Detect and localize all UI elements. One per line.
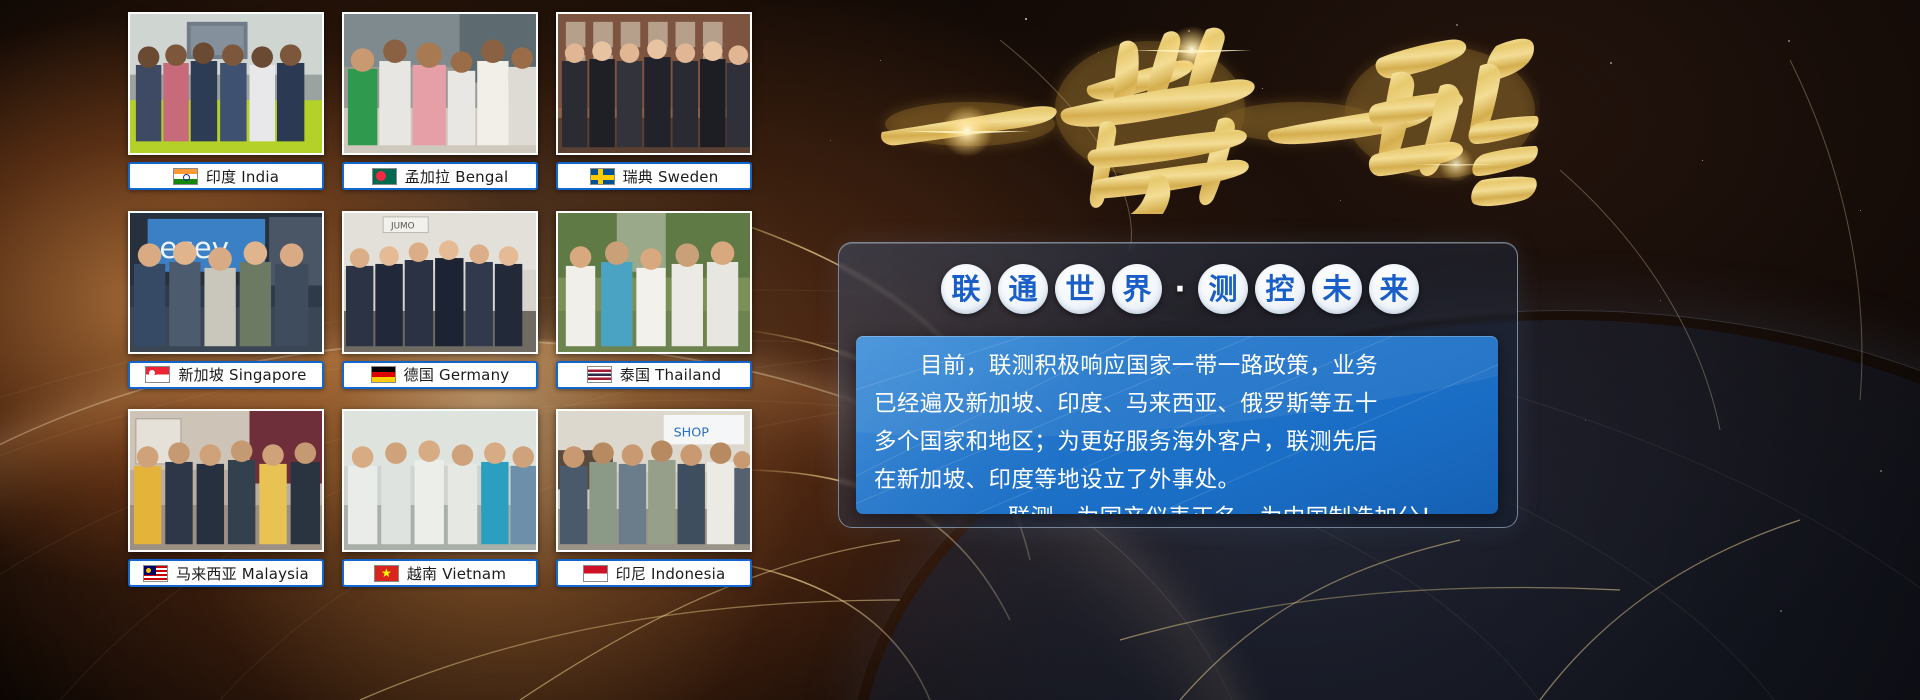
gallery-item-vietnam[interactable]: 越南 Vietnam [342, 409, 538, 592]
label-india[interactable]: 印度 India [128, 162, 324, 190]
photo-singapore: ecev [128, 211, 324, 354]
label-singapore[interactable]: 新加坡 Singapore [128, 361, 324, 389]
photo-indonesia: SHOP [556, 409, 752, 552]
flag-vietnam-icon [374, 565, 399, 582]
slogan-char-5: 测 [1198, 264, 1248, 314]
slogan-char-8: 来 [1369, 264, 1419, 314]
label-text: 德国 Germany [404, 364, 510, 385]
photo-sweden [556, 12, 752, 155]
description-text: 目前，联测积极响应国家一带一路政策，业务 已经遍及新加坡、印度、马来西亚、俄罗斯… [874, 347, 1480, 514]
flag-sweden-icon [590, 168, 615, 185]
label-text: 马来西亚 Malaysia [176, 563, 309, 584]
label-bangladesh[interactable]: 孟加拉 Bengal [342, 162, 538, 190]
gallery-item-bangladesh[interactable]: 孟加拉 Bengal [342, 12, 538, 195]
label-thailand[interactable]: 泰国 Thailand [556, 361, 752, 389]
photo-germany: JUMO [342, 211, 538, 354]
label-sweden[interactable]: 瑞典 Sweden [556, 162, 752, 190]
description-line-1: 目前，联测积极响应国家一带一路政策，业务 [874, 347, 1480, 385]
label-vietnam[interactable]: 越南 Vietnam [342, 559, 538, 587]
description-line-4: 在新加坡、印度等地设立了外事处。 [874, 461, 1480, 499]
flag-malaysia-icon [143, 565, 168, 582]
description-panel: 目前，联测积极响应国家一带一路政策，业务 已经遍及新加坡、印度、马来西亚、俄罗斯… [856, 336, 1498, 514]
slogan-char-2: 通 [998, 264, 1048, 314]
slogan-char-6: 控 [1255, 264, 1305, 314]
gallery-item-sweden[interactable]: 瑞典 Sweden [556, 12, 752, 195]
flag-thailand-icon [587, 366, 612, 383]
photo-thailand [556, 211, 752, 354]
gallery-item-germany[interactable]: JUMO 德国 Germany [342, 211, 538, 394]
description-line-2: 已经遍及新加坡、印度、马来西亚、俄罗斯等五十 [874, 385, 1480, 423]
country-photo-grid: 印度 India [128, 12, 752, 592]
label-text: 泰国 Thailand [620, 364, 721, 385]
gallery-item-thailand[interactable]: 泰国 Thailand [556, 211, 752, 394]
slogan-char-4: 界 [1112, 264, 1162, 314]
flag-indonesia-icon [583, 565, 608, 582]
label-text: 瑞典 Sweden [623, 166, 719, 187]
photo-india [128, 12, 324, 155]
label-malaysia[interactable]: 马来西亚 Malaysia [128, 559, 324, 587]
description-line-5: 联测，为国产仪表正名，为中国制造加分！ [874, 499, 1480, 514]
slogan-char-7: 未 [1312, 264, 1362, 314]
gallery-item-malaysia[interactable]: 马来西亚 Malaysia [128, 409, 324, 592]
photo-bangladesh [342, 12, 538, 155]
flag-india-icon [173, 168, 198, 185]
flag-germany-icon [371, 366, 396, 383]
label-text: 孟加拉 Bengal [405, 166, 509, 187]
gallery-item-india[interactable]: 印度 India [128, 12, 324, 195]
slogan-char-1: 联 [941, 264, 991, 314]
slogan-row: 联 通 世 界 · 测 控 未 来 [880, 258, 1480, 320]
label-germany[interactable]: 德国 Germany [342, 361, 538, 389]
label-indonesia[interactable]: 印尼 Indonesia [556, 559, 752, 587]
gallery-item-singapore[interactable]: ecev 新加坡 Singapore [128, 211, 324, 394]
promo-banner: 印度 India [0, 0, 1920, 700]
label-text: 新加坡 Singapore [178, 364, 306, 385]
description-line-3: 多个国家和地区；为更好服务海外客户，联测先后 [874, 423, 1480, 461]
photo-malaysia [128, 409, 324, 552]
label-text: 印尼 Indonesia [616, 563, 726, 584]
svg-text:JUMO: JUMO [390, 221, 415, 231]
photo-vietnam [342, 409, 538, 552]
svg-text:SHOP: SHOP [674, 426, 710, 441]
slogan-char-3: 世 [1055, 264, 1105, 314]
flag-bangladesh-icon [372, 168, 397, 185]
label-text: 印度 India [206, 166, 279, 187]
flag-singapore-icon [145, 366, 170, 383]
gallery-item-indonesia[interactable]: SHOP 印尼 Indonesia [556, 409, 752, 592]
slogan-separator-dot: · [1169, 264, 1191, 314]
label-text: 越南 Vietnam [407, 563, 506, 584]
headline-calligraphy [820, 4, 1540, 214]
